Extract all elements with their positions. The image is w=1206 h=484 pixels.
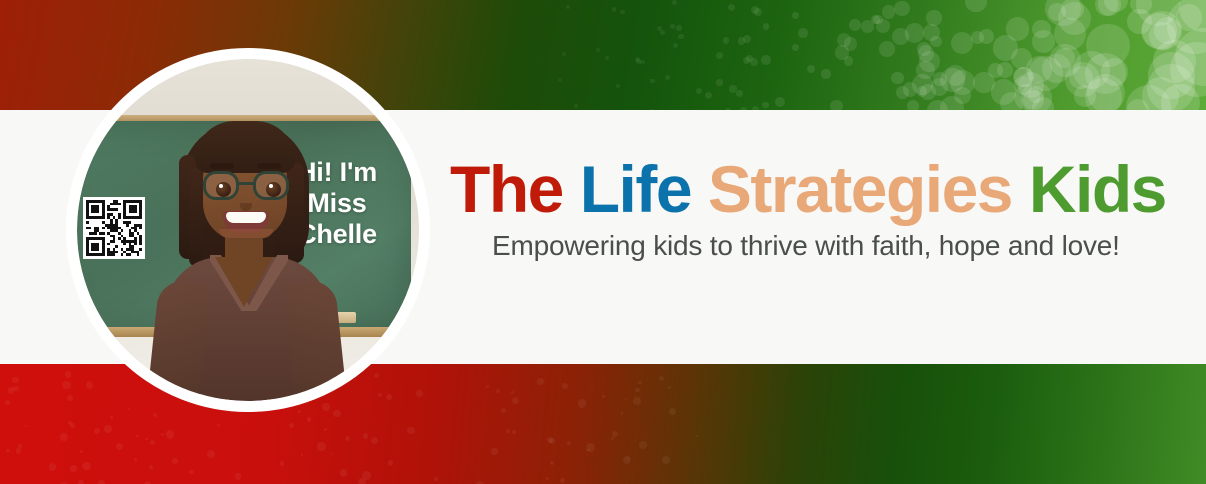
decorative-dot <box>324 428 327 431</box>
decorative-dot <box>665 75 670 80</box>
decorative-dot <box>496 389 500 393</box>
decorative-dot <box>298 410 301 413</box>
decorative-dot <box>149 465 153 469</box>
decorative-dot <box>891 72 904 85</box>
decorative-dot <box>18 444 22 448</box>
decorative-dot <box>567 441 571 445</box>
decorative-dot <box>13 386 19 392</box>
eye-right <box>266 182 281 197</box>
decorative-dot <box>763 23 769 29</box>
decorative-dot <box>82 462 90 470</box>
eyebrow-left <box>210 163 234 169</box>
banner: Hi! I'm Miss Chelle <box>0 0 1206 484</box>
decorative-dot <box>491 448 497 454</box>
decorative-dot <box>280 461 284 465</box>
decorative-dot <box>371 437 378 444</box>
decorative-dot <box>844 37 858 51</box>
decorative-dot <box>6 449 9 452</box>
decorative-dot <box>80 450 83 453</box>
decorative-dot <box>821 69 830 78</box>
decorative-dot <box>1049 44 1081 76</box>
decorative-dot <box>997 62 1013 78</box>
decorative-dot <box>1021 82 1052 112</box>
decorative-dot <box>738 37 745 44</box>
decorative-dot <box>905 23 924 42</box>
decorative-dot <box>792 12 799 19</box>
decorative-dot <box>591 386 593 388</box>
decorative-dot <box>723 37 729 43</box>
decorative-dot <box>602 395 605 398</box>
decorative-dot <box>728 4 735 11</box>
decorative-dot <box>333 410 341 418</box>
decorative-dot <box>574 104 578 108</box>
decorative-dot <box>754 8 762 16</box>
decorative-dot <box>68 421 72 425</box>
eye-left <box>216 182 231 197</box>
decorative-dot <box>882 5 896 19</box>
decorative-dot <box>501 408 507 414</box>
decorative-dot <box>979 29 994 44</box>
decorative-dot <box>636 59 641 64</box>
decorative-dot <box>1058 2 1091 35</box>
glasses-bridge <box>239 182 253 185</box>
decorative-dot <box>807 65 815 73</box>
decorative-dot <box>65 371 71 377</box>
decorative-dot <box>951 32 973 54</box>
decorative-dot <box>650 79 655 84</box>
decorative-dot <box>612 7 616 11</box>
decorative-dot <box>546 477 549 480</box>
decorative-dot <box>669 408 676 415</box>
decorative-dot <box>716 52 723 59</box>
decorative-dot <box>1085 78 1123 112</box>
decorative-dot <box>954 87 971 104</box>
decorative-dot <box>586 443 595 452</box>
decorative-dot <box>566 5 570 9</box>
decorative-dot <box>145 438 147 440</box>
decorative-dot <box>775 97 785 107</box>
decorative-dot <box>639 441 647 449</box>
decorative-dot <box>189 470 193 474</box>
decorative-dot <box>153 413 157 417</box>
decorative-dot <box>560 478 565 483</box>
decorative-dot <box>625 398 627 400</box>
decorative-dot <box>172 458 178 464</box>
eyebrow-right <box>257 163 281 169</box>
decorative-dot <box>331 453 333 455</box>
decorative-dot <box>136 435 138 437</box>
decorative-dot <box>623 456 631 464</box>
decorative-dot <box>670 24 675 29</box>
teeth <box>226 212 266 223</box>
decorative-dot <box>672 0 677 5</box>
decorative-dot <box>110 416 112 418</box>
decorative-dot <box>98 480 105 484</box>
decorative-dot <box>578 399 587 408</box>
decorative-dot <box>879 41 894 56</box>
decorative-dot <box>345 436 350 441</box>
decorative-dot <box>150 440 155 445</box>
decorative-dot <box>716 79 722 85</box>
decorative-dot <box>144 481 151 484</box>
decorative-dot <box>638 381 642 385</box>
decorative-dot <box>67 395 74 402</box>
decorative-dot <box>612 431 618 437</box>
decorative-dot <box>12 377 18 383</box>
decorative-dot <box>620 10 625 15</box>
decorative-dot <box>322 403 330 411</box>
decorative-dot <box>307 417 311 421</box>
decorative-dot <box>662 456 670 464</box>
decorative-dot <box>434 477 437 480</box>
decorative-dot <box>166 430 175 439</box>
decorative-dot <box>919 51 940 72</box>
glasses-icon <box>203 171 289 201</box>
decorative-dot <box>116 443 122 449</box>
decorative-dot <box>511 391 514 394</box>
decorative-dot <box>550 461 554 465</box>
decorative-dot <box>486 385 489 388</box>
decorative-dot <box>25 425 27 427</box>
lower-lip <box>219 229 273 238</box>
decorative-dot <box>363 433 369 439</box>
decorative-dot <box>207 450 214 457</box>
decorative-dot <box>761 55 770 64</box>
decorative-dot <box>991 79 1017 105</box>
decorative-dot <box>673 43 678 48</box>
headline-word-kids: Kids <box>1029 152 1166 226</box>
tagline: Empowering kids to thrive with faith, ho… <box>492 230 1120 262</box>
decorative-dot <box>705 92 712 99</box>
decorative-dot <box>668 386 671 389</box>
decorative-dot <box>16 448 21 453</box>
decorative-dot <box>792 44 799 51</box>
decorative-dot <box>676 25 681 30</box>
decorative-dot <box>388 460 393 465</box>
decorative-dot <box>635 388 640 393</box>
decorative-dot <box>512 430 516 434</box>
right-arm <box>283 279 348 401</box>
decorative-dot <box>729 85 736 92</box>
decorative-dot <box>289 423 294 428</box>
decorative-dot <box>70 465 77 472</box>
decorative-dot <box>5 400 10 405</box>
decorative-dot <box>633 397 642 406</box>
decorative-dot <box>94 428 100 434</box>
decorative-dot <box>762 102 768 108</box>
decorative-dot <box>562 383 569 390</box>
decorative-dot <box>596 48 600 52</box>
decorative-dot <box>750 58 758 66</box>
decorative-dot <box>558 78 562 82</box>
decorative-dot <box>407 427 414 434</box>
decorative-dot <box>362 471 371 480</box>
decorative-dot <box>562 52 566 56</box>
avatar: Hi! I'm Miss Chelle <box>66 48 430 412</box>
decorative-dot <box>547 437 553 443</box>
decorative-dot <box>1032 30 1055 53</box>
decorative-dot <box>611 437 614 440</box>
decorative-dot <box>49 463 56 470</box>
decorative-dot <box>104 425 112 433</box>
glasses-lens-right <box>253 171 289 200</box>
decorative-dot <box>62 381 70 389</box>
decorative-dot <box>506 429 510 433</box>
decorative-dot <box>873 15 882 24</box>
decorative-dot <box>798 28 808 38</box>
decorative-dot <box>537 378 543 384</box>
avatar-scene: Hi! I'm Miss Chelle <box>77 59 419 401</box>
decorative-dot <box>696 88 702 94</box>
decorative-dot <box>894 1 910 17</box>
decorative-dot <box>993 35 1019 61</box>
decorative-dot <box>235 473 242 480</box>
decorative-dot <box>605 56 609 60</box>
decorative-dot <box>844 56 853 65</box>
decorative-dot <box>217 424 219 426</box>
headline-word-the: The <box>450 152 563 226</box>
decorative-dot <box>134 458 137 461</box>
glasses-lens-left <box>203 171 239 200</box>
qr-code-icon[interactable] <box>83 197 145 259</box>
decorative-dot <box>896 86 908 98</box>
decorative-dot <box>301 453 304 456</box>
decorative-dot <box>78 480 84 484</box>
decorative-dot <box>621 412 623 414</box>
decorative-dot <box>161 433 164 436</box>
decorative-dot <box>659 376 665 382</box>
decorative-dot <box>340 469 348 477</box>
decorative-dot <box>60 433 69 442</box>
headline-word-life: Life <box>580 152 691 226</box>
headline-word-strategies: Strategies <box>708 152 1012 226</box>
loc-strand <box>287 163 304 263</box>
page-title: The Life Strategies Kids <box>450 152 1166 226</box>
decorative-dot <box>512 397 519 404</box>
decorative-dot <box>616 84 620 88</box>
decorative-dot <box>696 435 699 438</box>
decorative-dot <box>678 34 684 40</box>
decorative-dot <box>849 19 861 31</box>
decorative-dot <box>317 442 326 451</box>
decorative-dot <box>930 36 942 48</box>
decorative-dot <box>128 408 130 410</box>
decorative-dot <box>965 0 986 12</box>
decorative-dot <box>736 90 743 97</box>
